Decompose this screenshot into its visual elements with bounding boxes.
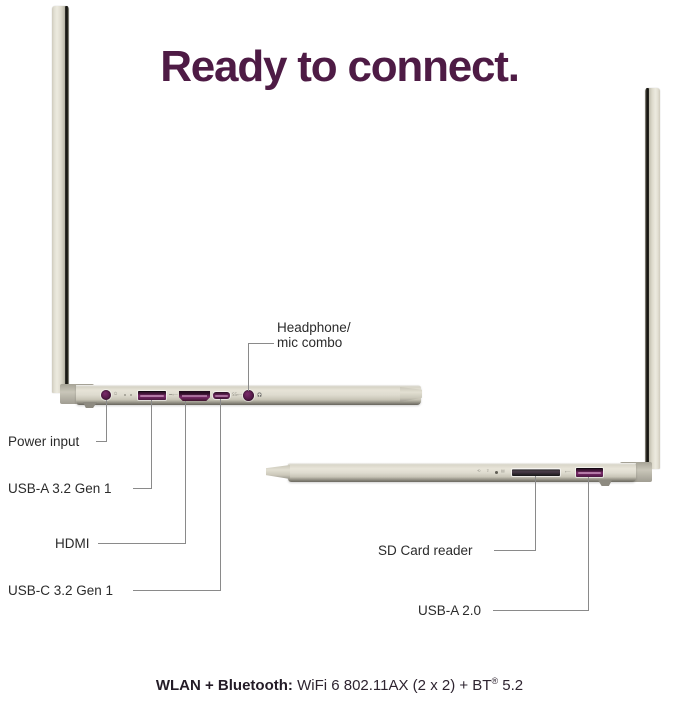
port-hdmi[interactable] [179, 391, 210, 401]
usb-a-tongue [140, 395, 164, 397]
power-glyph-icon: ⏻ [114, 392, 117, 396]
page-title: Ready to connect. [0, 42, 679, 92]
product-diagram: Ready to connect. ⏻ ⎓⟵ HDMI [0, 0, 679, 705]
laptop-right-foot [598, 480, 612, 486]
leader-usba20-vertical [588, 477, 589, 611]
leader-hdmi-vertical [185, 401, 186, 544]
hdmi-tongue [182, 395, 207, 397]
laptop-right-screen-edge [646, 88, 649, 469]
leader-usba-horizontal [133, 488, 152, 489]
wlan-bluetooth-spec: WLAN + Bluetooth: WiFi 6 802.11AX (2 x 2… [0, 676, 679, 694]
leader-usba20-horizontal [493, 610, 589, 611]
wlan-bluetooth-label: WLAN + Bluetooth: [156, 677, 293, 694]
label-headphone-mic-combo: Headphone/ mic combo [277, 320, 407, 350]
label-usb-a-3-2-gen-1: USB-A 3.2 Gen 1 [8, 481, 112, 496]
label-usb-a-2-0: USB-A 2.0 [418, 603, 481, 618]
leader-hdmi-horizontal [98, 543, 186, 544]
leader-headphone-horizontal [248, 343, 274, 344]
laptop-right-taper [266, 465, 290, 479]
port-usb-c-3-2-gen-1[interactable] [213, 392, 230, 399]
port-usb-a-2-0[interactable] [576, 468, 603, 477]
status-led-dot-icon [130, 394, 132, 396]
sd-card-glyph-icon: ▤ [501, 469, 505, 473]
leader-usbc-horizontal [133, 590, 221, 591]
usb-a-glyph-icon: ⟵ [565, 470, 571, 474]
indicator-dot-icon [495, 471, 498, 474]
laptop-left-lid [52, 6, 69, 393]
novo-recovery-glyph-icon: ⟲ [477, 469, 480, 473]
leader-power-vertical [106, 400, 107, 442]
usb-a-tongue [578, 472, 601, 474]
port-power-input[interactable] [101, 390, 111, 400]
base-shadow [288, 477, 636, 482]
leader-sd-horizontal [494, 550, 535, 551]
wlan-bluetooth-value: WiFi 6 802.11AX (2 x 2) + BT [297, 677, 491, 694]
base-highlight [288, 463, 636, 465]
usb-a-glyph-icon: ⎓⟵ [169, 393, 178, 397]
laptop-left-screen-edge [65, 6, 68, 393]
usb-c-tongue [215, 395, 228, 397]
sd-slot-highlight [512, 469, 560, 470]
wlan-bluetooth-value-suffix: 5.2 [498, 677, 523, 694]
caps-lock-glyph-icon: ⇪ [486, 469, 489, 473]
label-usb-c-3-2-gen-1: USB-C 3.2 Gen 1 [8, 583, 113, 598]
label-power-input: Power input [8, 434, 79, 449]
leader-power-horizontal [96, 441, 106, 442]
port-sd-card-reader[interactable] [512, 469, 560, 476]
leader-usba-vertical [151, 400, 152, 489]
leader-usbc-vertical [220, 399, 221, 591]
leader-sd-vertical [535, 476, 536, 551]
laptop-right-lid [645, 88, 660, 469]
label-hdmi: HDMI [55, 536, 90, 551]
port-headphone-mic-combo[interactable] [243, 390, 254, 401]
headphone-glyph-icon: 🎧 [257, 393, 262, 397]
laptop-left-foot [83, 402, 97, 408]
leader-headphone-vertical [248, 343, 249, 391]
usb-c-glyph-icon: SS⟵ [232, 393, 243, 397]
status-led-dot-icon [124, 394, 126, 396]
port-usb-a-3-2-gen-1[interactable] [138, 391, 166, 400]
label-sd-card-reader: SD Card reader [378, 543, 473, 558]
